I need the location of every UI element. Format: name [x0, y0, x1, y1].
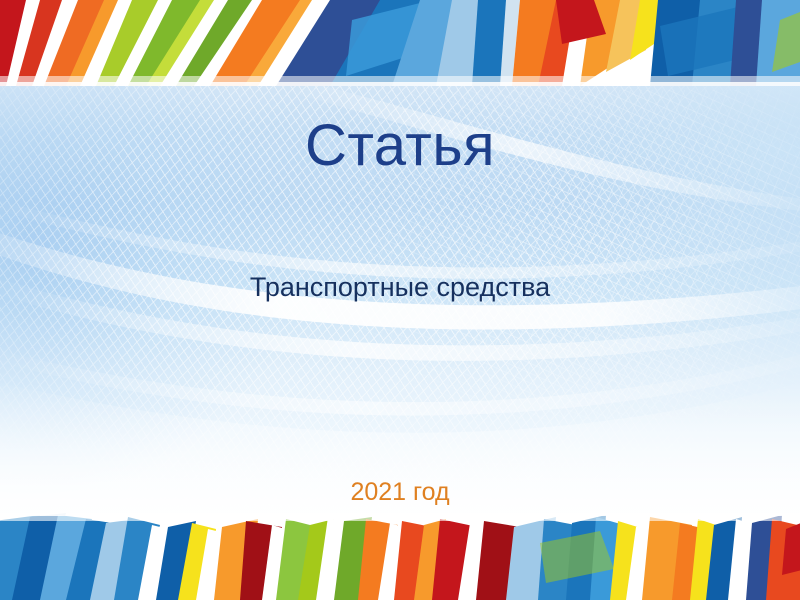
top-band-shards: [0, 0, 800, 86]
top-decoration-band: [0, 0, 800, 86]
slide-subtitle: Транспортные средства: [0, 269, 800, 305]
bottom-band-shards: [0, 513, 800, 600]
presentation-slide: Статья Транспортные средства 2021 год: [0, 0, 800, 600]
slide-year: 2021 год: [0, 476, 800, 508]
bottom-decoration-band: [0, 513, 800, 600]
slide-title: Статья: [0, 110, 800, 182]
